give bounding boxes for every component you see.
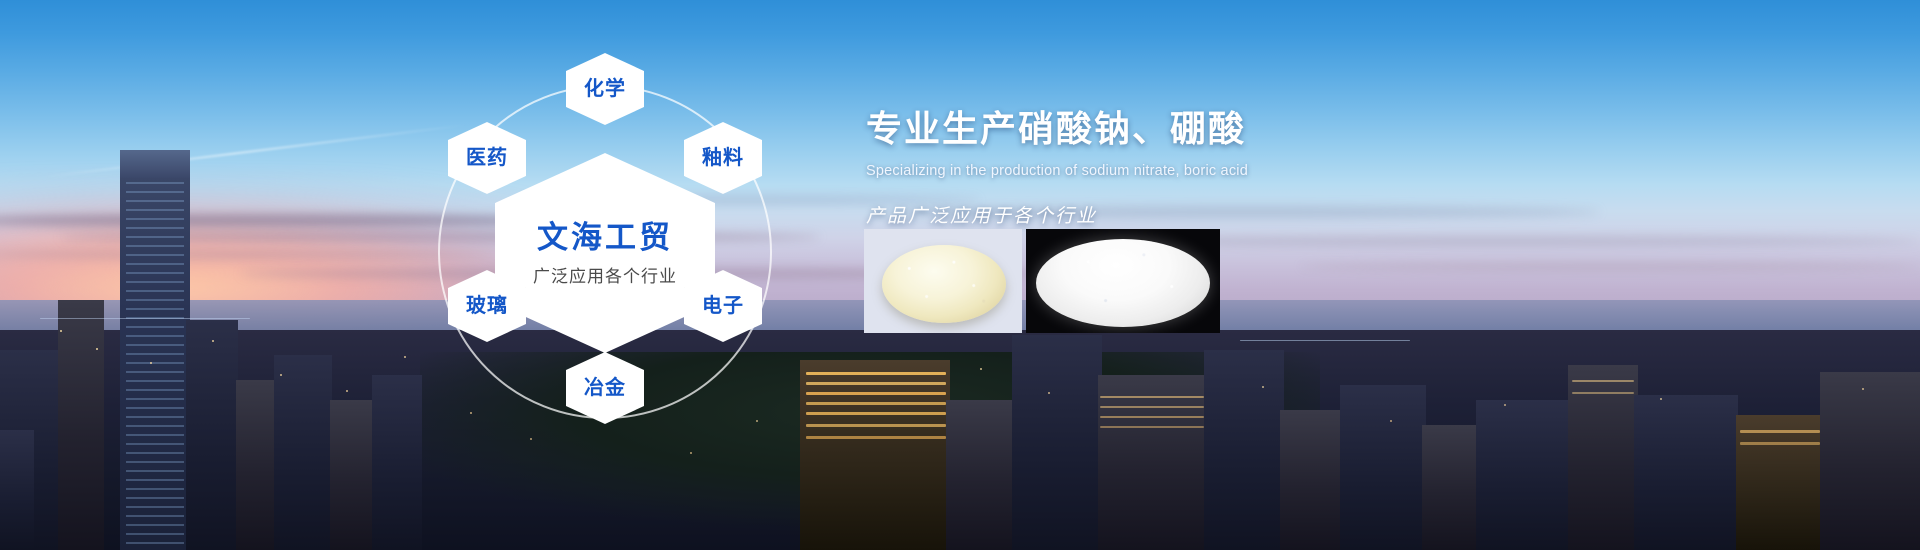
- hex-node-label: 玻璃: [466, 294, 508, 319]
- hex-node-label: 电子: [702, 294, 744, 319]
- building: [1012, 335, 1102, 550]
- building: [1820, 372, 1920, 550]
- hex-node-label: 冶金: [584, 376, 626, 401]
- powder-grain-texture: [1036, 239, 1210, 327]
- building: [236, 380, 276, 550]
- building: [946, 400, 1016, 550]
- building: [1634, 395, 1738, 550]
- building: [1736, 415, 1824, 550]
- building: [1280, 410, 1344, 550]
- building: [274, 355, 332, 550]
- headline-english: Specializing in the production of sodium…: [866, 163, 1626, 179]
- company-slogan: 广泛应用各个行业: [533, 266, 677, 287]
- building: [1098, 375, 1208, 550]
- product-photo-sodium-nitrate[interactable]: [864, 229, 1022, 333]
- hex-node-label: 化学: [584, 77, 626, 102]
- building: [1422, 425, 1480, 550]
- headline: 专业生产硝酸钠、硼酸: [866, 100, 1626, 152]
- tagline: 产品广泛应用于各个行业: [866, 201, 1626, 228]
- building: [1568, 365, 1638, 550]
- product-photo-boric-acid[interactable]: [1026, 229, 1220, 333]
- hex-node-label: 医药: [466, 146, 508, 171]
- promo-banner: 文海工贸 广泛应用各个行业 化学 釉料 电子 冶金 玻璃 医药 专业生产硝酸钠、…: [0, 0, 1920, 550]
- building: [1204, 350, 1284, 550]
- building: [58, 300, 104, 550]
- cloud-streak: [1300, 262, 1920, 271]
- company-name: 文海工贸: [537, 219, 673, 258]
- glass-tower-crown: [120, 150, 190, 178]
- industry-hex-diagram: 文海工贸 广泛应用各个行业 化学 釉料 电子 冶金 玻璃 医药: [360, 25, 840, 525]
- hex-node-label: 釉料: [702, 146, 744, 171]
- banner-copy: 专业生产硝酸钠、硼酸 Specializing in the productio…: [866, 100, 1626, 228]
- building: [186, 320, 238, 550]
- powder-grain-texture: [882, 245, 1006, 323]
- glass-tower: [120, 150, 190, 550]
- building: [1340, 385, 1426, 550]
- building: [1476, 400, 1572, 550]
- building: [0, 430, 34, 550]
